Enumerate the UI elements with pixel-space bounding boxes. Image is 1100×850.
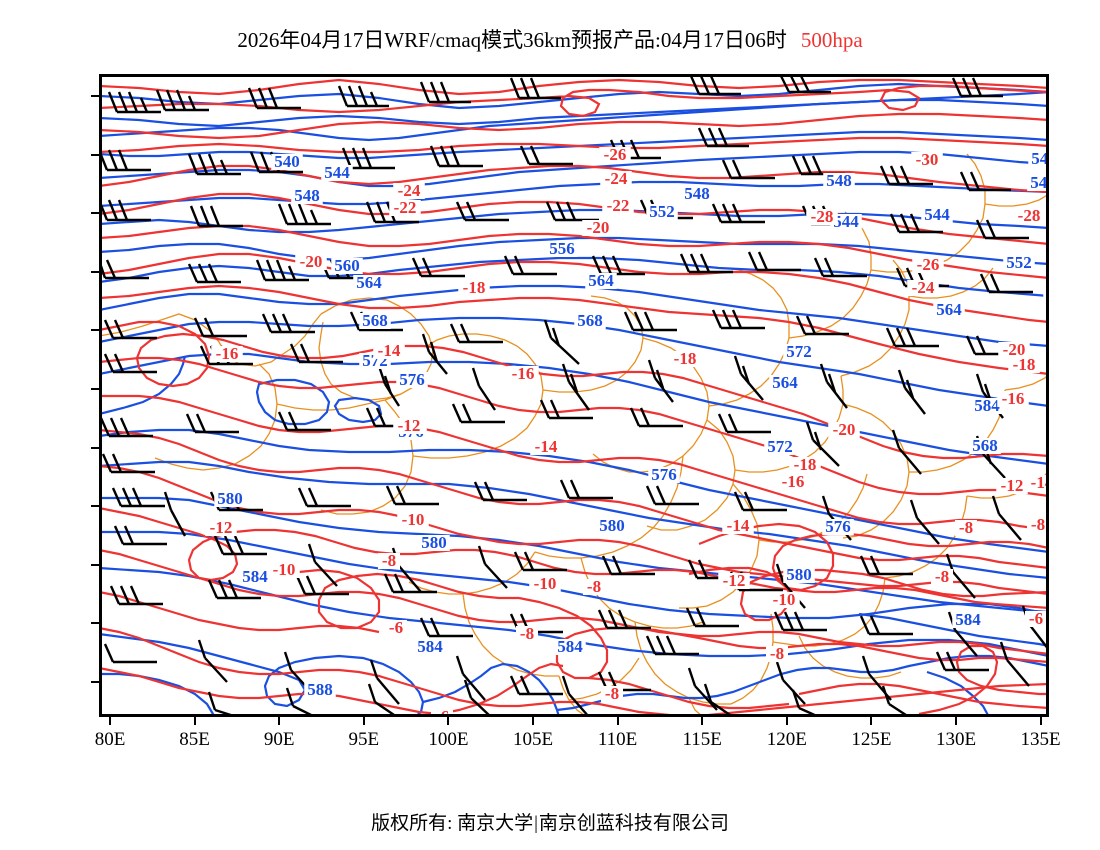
y-axis-tick [91, 271, 99, 273]
x-axis-tick [532, 717, 534, 725]
footer-copyright-text: 版权所有: 南京大学 [371, 808, 533, 835]
chart-title: 2026年04月17日WRF/cmaq模式36km预报产品:04月17日06时5… [0, 24, 1100, 54]
x-axis-tick-label: 125E [851, 729, 891, 751]
x-axis-tick-label: 90E [264, 729, 295, 751]
x-axis-tick-label: 115E [682, 729, 721, 751]
footer-copyright: 版权所有: 南京大学|南京创蓝科技有限公司 [0, 808, 1100, 835]
y-axis-tick [91, 388, 99, 390]
x-axis-tick [363, 717, 365, 725]
x-axis-tick-label: 105E [513, 729, 553, 751]
y-axis-tick [91, 154, 99, 156]
x-axis-tick-label: 120E [767, 729, 807, 751]
x-axis-tick [870, 717, 872, 725]
x-axis-tick [194, 717, 196, 725]
y-axis-tick [91, 447, 99, 449]
plot-frame [99, 74, 1049, 717]
weather-map-plot[interactable]: 5405445485525485565605645645685685725725… [99, 74, 1049, 717]
x-axis-tick-label: 80E [95, 729, 126, 751]
x-axis-tick-label: 100E [428, 729, 468, 751]
footer-company: 南京创蓝科技有限公司 [539, 808, 729, 835]
x-axis-tick-label: 95E [348, 729, 379, 751]
y-axis-tick [91, 212, 99, 214]
y-axis-tick [91, 564, 99, 566]
x-axis-tick [1040, 717, 1042, 725]
chart-title-main: 2026年04月17日WRF/cmaq模式36km预报产品:04月17日06时 [237, 28, 787, 52]
x-axis-tick-label: 110E [598, 729, 637, 751]
y-axis-tick [91, 95, 99, 97]
x-axis-tick-label: 135E [1021, 729, 1061, 751]
x-axis-tick [701, 717, 703, 725]
x-axis-tick [786, 717, 788, 725]
y-axis-tick [91, 681, 99, 683]
x-axis-tick-label: 130E [936, 729, 976, 751]
x-axis-tick-label: 85E [179, 729, 210, 751]
x-axis-tick [447, 717, 449, 725]
y-axis-tick [91, 329, 99, 331]
x-axis-tick [617, 717, 619, 725]
x-axis-tick [109, 717, 111, 725]
chart-title-level: 500hpa [801, 28, 863, 52]
y-axis-tick [91, 505, 99, 507]
y-axis-tick [91, 622, 99, 624]
x-axis-tick [278, 717, 280, 725]
x-axis-tick [955, 717, 957, 725]
